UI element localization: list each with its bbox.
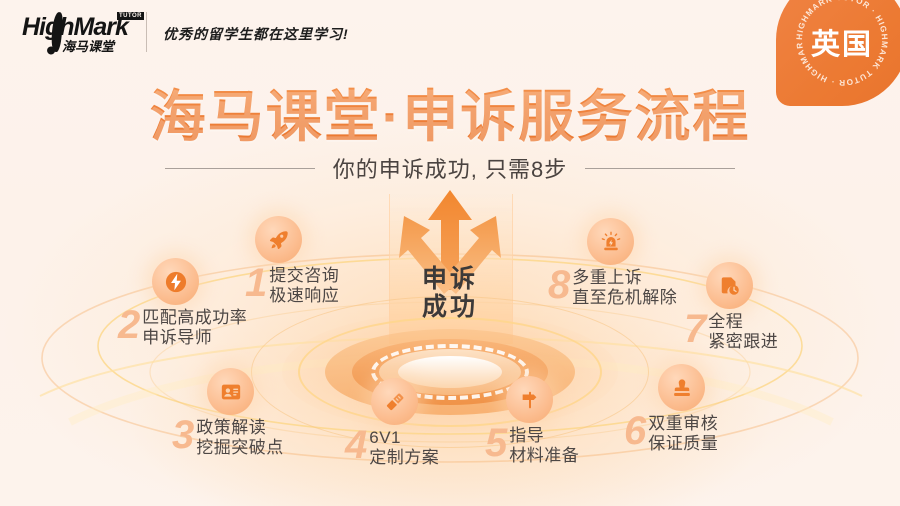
step-5-body: 5 指导 材料准备 bbox=[485, 424, 579, 465]
step-2-line2: 申诉导师 bbox=[142, 328, 247, 348]
subtitle-row: 你的申诉成功, 只需8步 bbox=[0, 152, 900, 184]
podium-core bbox=[398, 356, 502, 388]
step-1-line1: 提交咨询 bbox=[269, 266, 339, 286]
step-4-line1: 6V1 bbox=[369, 428, 439, 448]
step-6-line2: 保证质量 bbox=[648, 434, 718, 454]
step-4-line2: 定制方案 bbox=[369, 448, 439, 468]
subtitle-rule-right bbox=[585, 168, 735, 169]
step-8-body: 8 多重上诉 直至危机解除 bbox=[548, 266, 677, 307]
step-7-line2: 紧密跟进 bbox=[708, 332, 778, 352]
step-4-body: 4 6V1 定制方案 bbox=[345, 426, 439, 467]
step-3-body: 3 政策解读 挖掘突破点 bbox=[172, 416, 284, 457]
step-2-body: 2 匹配高成功率 申诉导师 bbox=[118, 306, 247, 347]
step-6-text: 双重审核 保证质量 bbox=[648, 412, 718, 453]
process-stage: 申诉 成功 1 提交咨询 极速响应 2 匹配 bbox=[0, 186, 900, 506]
page-title: 海马课堂·申诉服务流程 bbox=[0, 72, 900, 153]
subtitle-rule-left bbox=[165, 168, 315, 169]
step-5-line1: 指导 bbox=[509, 426, 579, 446]
step-5-line2: 材料准备 bbox=[509, 446, 579, 466]
step-8-text: 多重上诉 直至危机解除 bbox=[572, 266, 677, 307]
step-8-number: 8 bbox=[548, 266, 570, 304]
appeal-service-process-poster: HighMark TUTOR 海马课堂 优秀的留学生都在这里学习! HIGHMA… bbox=[0, 0, 900, 506]
step-4-text: 6V1 定制方案 bbox=[369, 426, 439, 467]
step-5-number: 5 bbox=[485, 424, 507, 462]
step-6-number: 6 bbox=[624, 412, 646, 450]
logo-mark: HighMark TUTOR 海马课堂 bbox=[22, 11, 142, 55]
step-3-number: 3 bbox=[172, 416, 194, 454]
step-1-line2: 极速响应 bbox=[269, 286, 339, 306]
step-8-line1: 多重上诉 bbox=[572, 268, 677, 288]
step-7-line1: 全程 bbox=[708, 312, 778, 332]
step-7-text: 全程 紧密跟进 bbox=[708, 310, 778, 351]
step-7-number: 7 bbox=[684, 310, 706, 348]
center-label-line1: 申诉 bbox=[390, 266, 510, 294]
step-3-line1: 政策解读 bbox=[196, 418, 284, 438]
center-success-label: 申诉 成功 bbox=[390, 266, 510, 321]
podium-platform bbox=[282, 306, 618, 438]
stamp-icon bbox=[658, 364, 705, 411]
id-card-icon bbox=[207, 368, 254, 415]
brand-logo[interactable]: HighMark TUTOR 海马课堂 bbox=[22, 11, 142, 55]
center-label-line2: 成功 bbox=[390, 294, 510, 322]
header-bar: HighMark TUTOR 海马课堂 优秀的留学生都在这里学习! bbox=[0, 0, 900, 66]
header-divider bbox=[146, 12, 147, 52]
brand-tagline: 优秀的留学生都在这里学习! bbox=[163, 24, 349, 44]
page-subtitle: 你的申诉成功, 只需8步 bbox=[333, 152, 567, 184]
signpost-icon bbox=[506, 376, 553, 423]
step-6-body: 6 双重审核 保证质量 bbox=[624, 412, 718, 453]
step-1-text: 提交咨询 极速响应 bbox=[269, 264, 339, 305]
step-3-line2: 挖掘突破点 bbox=[196, 438, 284, 458]
logo-chinese-name: 海马课堂 bbox=[62, 36, 114, 55]
siren-icon bbox=[587, 218, 634, 265]
step-7-body: 7 全程 紧密跟进 bbox=[684, 310, 778, 351]
logo-superscript: TUTOR bbox=[117, 12, 144, 20]
step-2-line1: 匹配高成功率 bbox=[142, 308, 247, 328]
step-5-text: 指导 材料准备 bbox=[509, 424, 579, 465]
bolt-icon bbox=[152, 258, 199, 305]
step-2-number: 2 bbox=[118, 306, 140, 344]
step-1-number: 1 bbox=[245, 264, 267, 302]
step-3-text: 政策解读 挖掘突破点 bbox=[196, 416, 284, 457]
step-8-line2: 直至危机解除 bbox=[572, 288, 677, 308]
step-2-text: 匹配高成功率 申诉导师 bbox=[142, 306, 247, 347]
rocket-icon bbox=[255, 216, 302, 263]
step-1-body: 1 提交咨询 极速响应 bbox=[245, 264, 339, 305]
step-4-number: 4 bbox=[345, 426, 367, 464]
step-6-line1: 双重审核 bbox=[648, 414, 718, 434]
ruler-pen-icon bbox=[371, 378, 418, 425]
doc-clock-icon bbox=[706, 262, 753, 309]
